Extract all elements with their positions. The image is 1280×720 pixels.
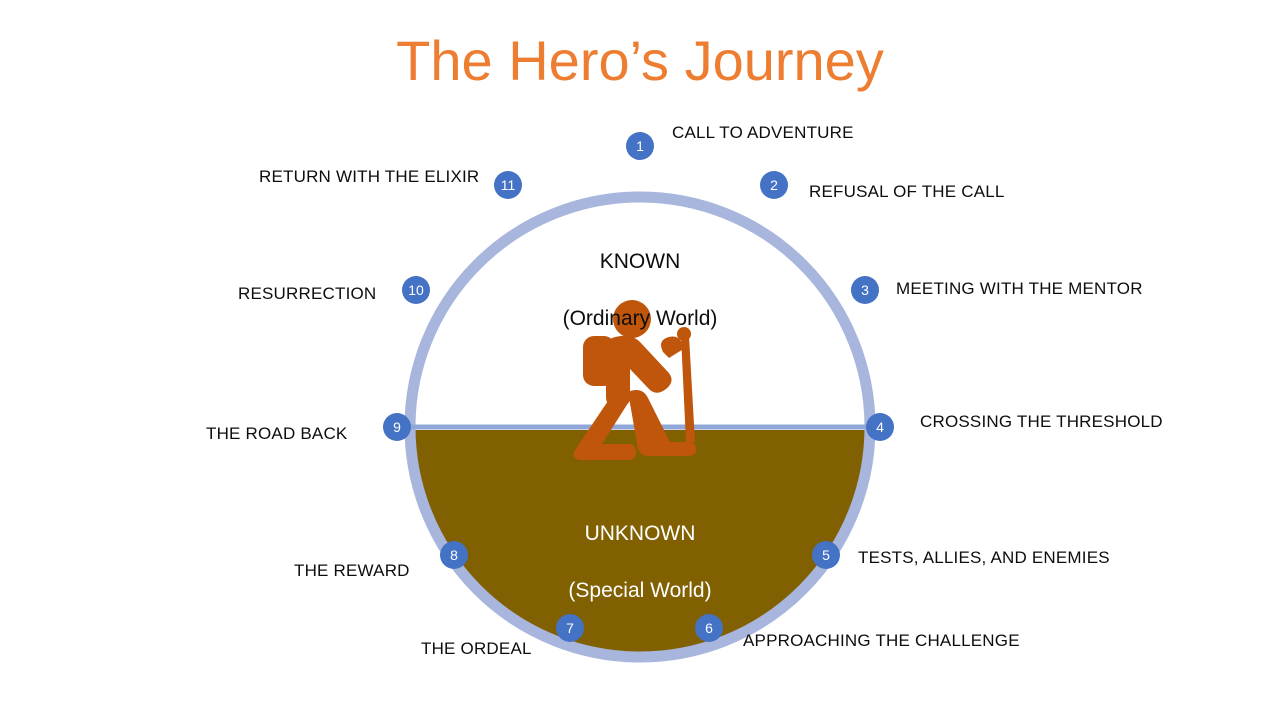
unknown-world-subheading: (Special World) [460, 577, 820, 605]
stage-node-7[interactable]: 7 [556, 614, 584, 642]
stage-label-6: APPROACHING THE CHALLENGE [743, 632, 1020, 649]
stage-label-9: THE ROAD BACK [206, 425, 347, 442]
known-world-heading: KNOWN [460, 248, 820, 276]
stage-label-2: REFUSAL OF THE CALL [809, 183, 1005, 200]
stage-node-11[interactable]: 11 [494, 171, 522, 199]
slide-canvas: The Hero’s Journey [0, 0, 1280, 720]
stage-node-5[interactable]: 5 [812, 541, 840, 569]
stage-node-3[interactable]: 3 [851, 276, 879, 304]
stage-node-2[interactable]: 2 [760, 171, 788, 199]
unknown-world-heading: UNKNOWN [460, 520, 820, 548]
stage-node-6[interactable]: 6 [695, 614, 723, 642]
stage-label-5: TESTS, ALLIES, AND ENEMIES [858, 549, 1110, 566]
stage-node-8[interactable]: 8 [440, 541, 468, 569]
stage-label-10: RESURRECTION [238, 285, 376, 302]
stage-label-11: RETURN WITH THE ELIXIR [259, 168, 479, 185]
stage-label-1: CALL TO ADVENTURE [672, 124, 854, 141]
stage-label-8: THE REWARD [294, 562, 410, 579]
stage-node-4[interactable]: 4 [866, 413, 894, 441]
stage-node-9[interactable]: 9 [383, 413, 411, 441]
stage-label-7: THE ORDEAL [421, 640, 532, 657]
known-world-label: KNOWN (Ordinary World) [460, 220, 820, 362]
stage-label-3: MEETING WITH THE MENTOR [896, 280, 1143, 297]
stage-label-4: CROSSING THE THRESHOLD [920, 413, 1163, 430]
stage-node-1[interactable]: 1 [626, 132, 654, 160]
unknown-world-label: UNKNOWN (Special World) [460, 492, 820, 634]
known-world-subheading: (Ordinary World) [460, 305, 820, 333]
stage-node-10[interactable]: 10 [402, 276, 430, 304]
